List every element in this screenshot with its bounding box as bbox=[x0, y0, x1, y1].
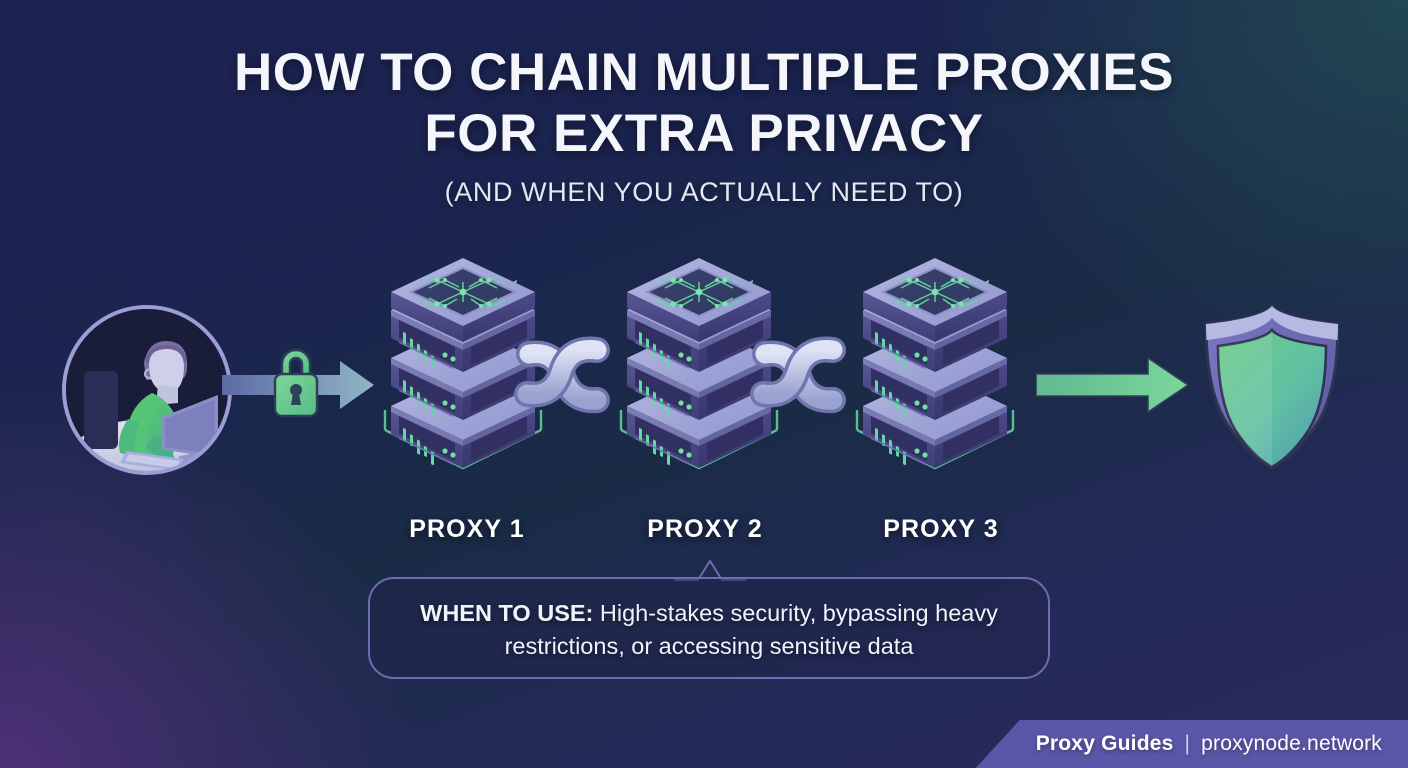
brand-separator: | bbox=[1185, 732, 1191, 756]
brand-site: proxynode.network bbox=[1201, 732, 1382, 756]
callout-text: WHEN TO USE: High-stakes security, bypas… bbox=[370, 597, 1048, 664]
shield-icon bbox=[1196, 300, 1348, 476]
arrow-right-icon bbox=[1036, 355, 1202, 415]
proxy-label-3: PROXY 3 bbox=[821, 515, 1061, 544]
title-block: HOW TO CHAIN MULTIPLE PROXIES FOR EXTRA … bbox=[0, 46, 1408, 208]
brand-name: Proxy Guides bbox=[1036, 732, 1174, 756]
proxy-label-2: PROXY 2 bbox=[585, 515, 825, 544]
title-line-1: HOW TO CHAIN MULTIPLE PROXIES bbox=[0, 46, 1408, 101]
title-line-2: FOR EXTRA PRIVACY bbox=[0, 107, 1408, 162]
proxy-label-1: PROXY 1 bbox=[347, 515, 587, 544]
padlock-icon bbox=[268, 345, 324, 421]
callout-box: WHEN TO USE: High-stakes security, bypas… bbox=[368, 577, 1050, 679]
person-at-computer-icon bbox=[66, 309, 228, 471]
proxy-chain-diagram bbox=[355, 252, 1055, 490]
title-subtitle: (AND WHEN YOU ACTUALLY NEED TO) bbox=[0, 177, 1408, 208]
callout-lead: WHEN TO USE: bbox=[420, 600, 593, 626]
brand-bar[interactable]: Proxy Guides | proxynode.network bbox=[976, 720, 1408, 768]
infographic-canvas: HOW TO CHAIN MULTIPLE PROXIES FOR EXTRA … bbox=[0, 0, 1408, 768]
avatar bbox=[62, 305, 232, 475]
